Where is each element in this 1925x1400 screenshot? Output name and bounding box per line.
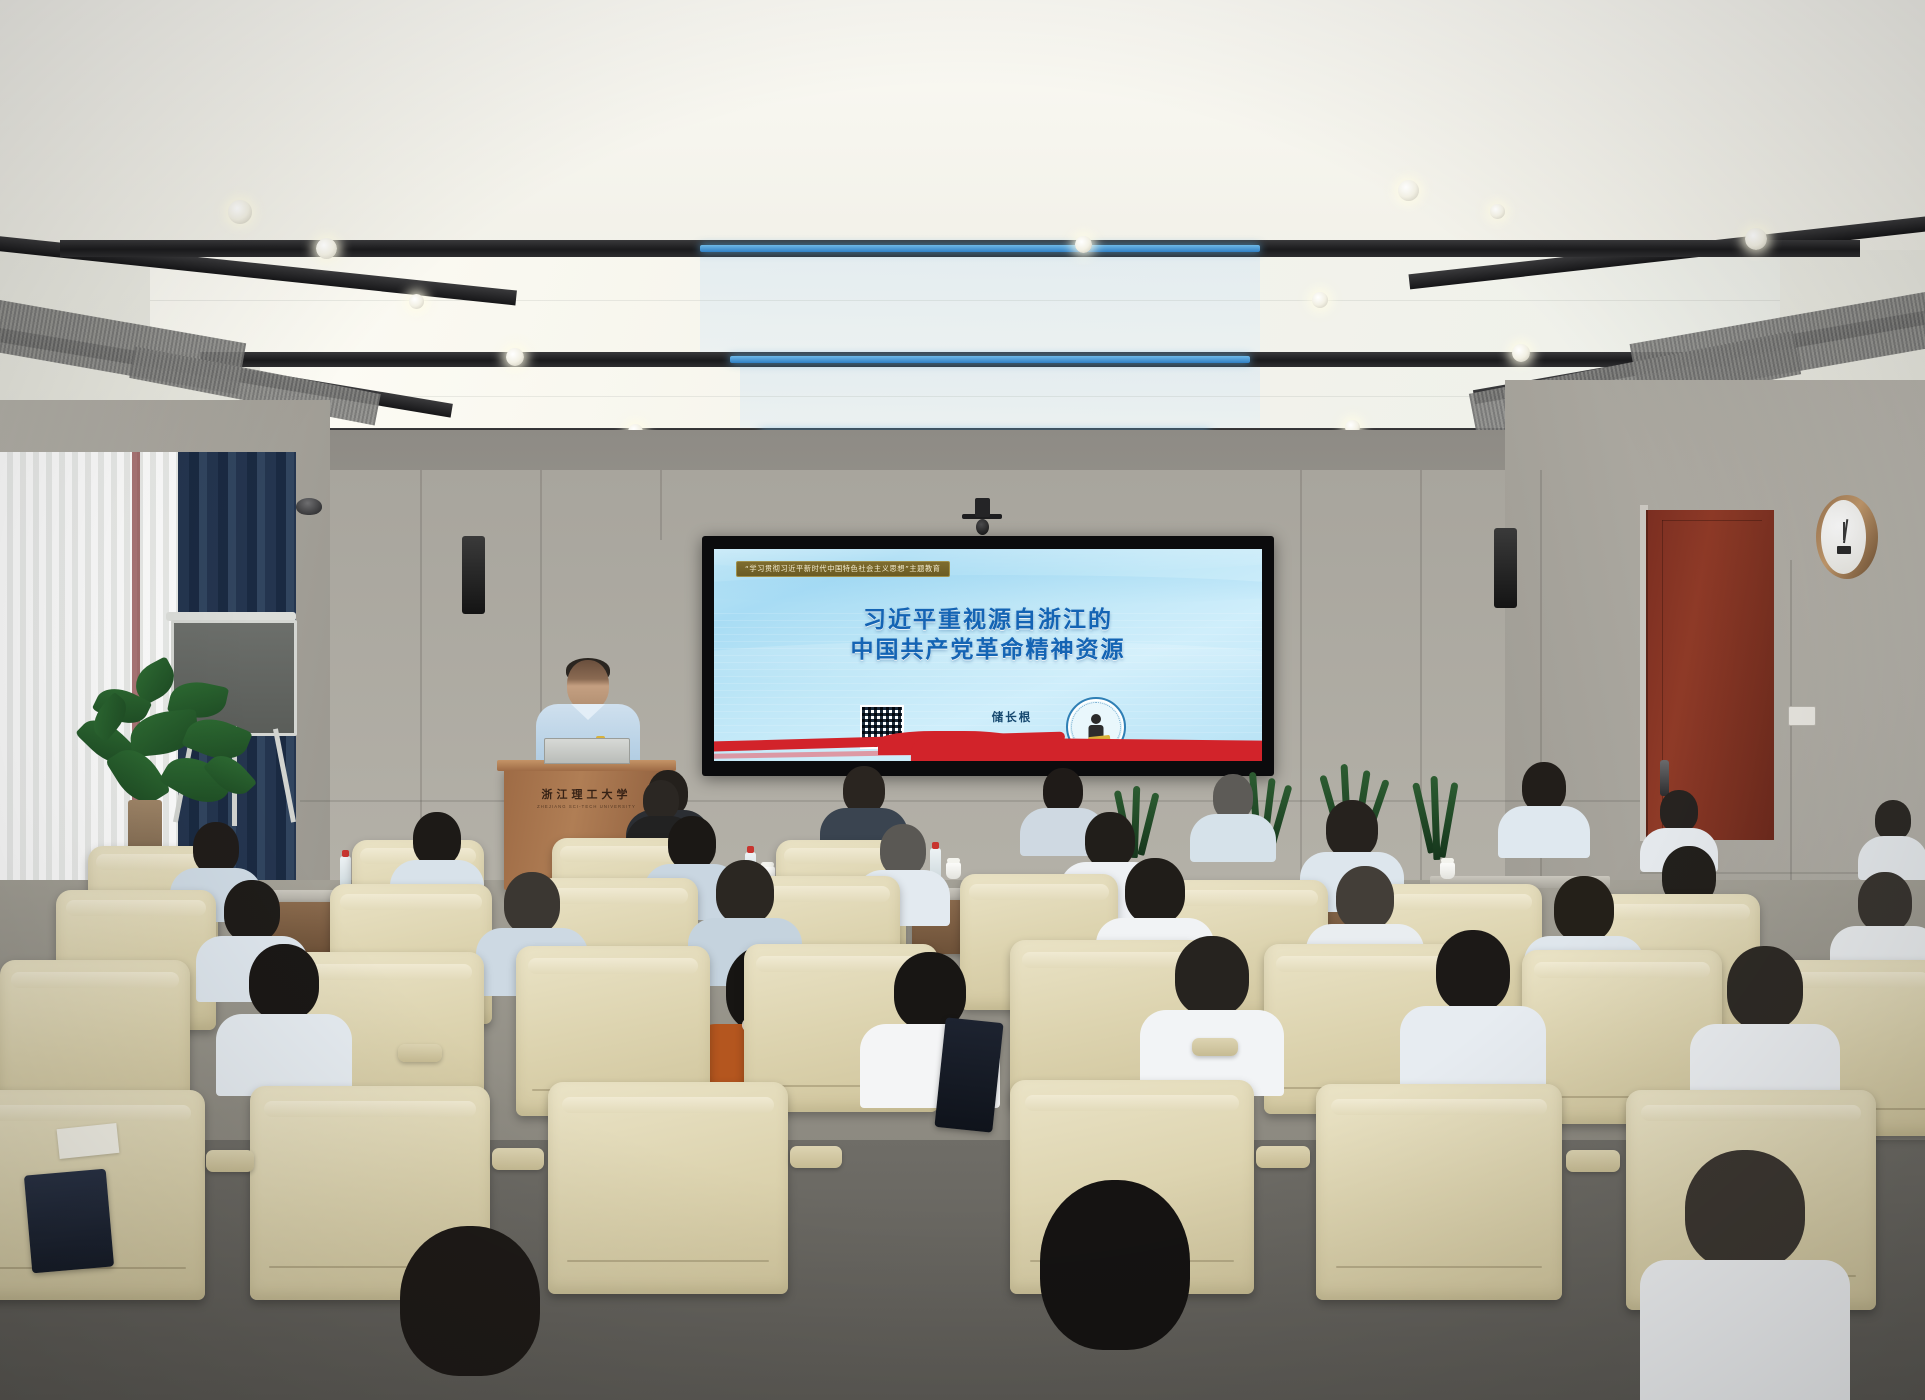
wall-speaker <box>462 536 485 614</box>
audience-person <box>360 1226 580 1400</box>
door-panel-line <box>1662 520 1762 521</box>
person-head <box>643 780 679 820</box>
wall-seam <box>1420 470 1422 900</box>
recessed-downlight <box>316 238 337 259</box>
audience-person <box>1190 774 1276 858</box>
person-head <box>400 1226 540 1376</box>
ceiling-camera-icon <box>296 498 322 515</box>
recessed-downlight <box>506 348 524 366</box>
person-head <box>1727 946 1803 1030</box>
wall-seam <box>660 470 662 540</box>
wall-seam <box>300 800 1640 802</box>
recessed-downlight <box>228 200 252 224</box>
person-body <box>1640 1260 1850 1400</box>
audience-person <box>1858 800 1925 874</box>
recessed-downlight <box>1512 344 1530 362</box>
coat <box>934 1017 1003 1132</box>
slide-title: 习近平重视源自浙江的 中国共产党革命精神资源 <box>714 605 1262 666</box>
tea-cup <box>1440 862 1455 879</box>
person-head <box>1326 800 1378 858</box>
projector-lens-icon <box>976 519 989 535</box>
clock-date-window <box>1837 546 1851 554</box>
recessed-downlight <box>1398 180 1419 201</box>
seat-armrest <box>1192 1038 1238 1056</box>
person-body <box>1400 1006 1546 1094</box>
person-body <box>1190 814 1276 862</box>
laptop <box>544 738 630 764</box>
blue-led-strip <box>730 356 1250 363</box>
notepad <box>57 1123 120 1159</box>
person-body <box>1498 806 1590 858</box>
person-body <box>216 1014 352 1096</box>
clock-face <box>1821 500 1866 574</box>
ceiling-panel-seam <box>150 300 1780 301</box>
ceiling-panel-seam <box>260 396 1670 397</box>
audience-person <box>1000 1180 1230 1400</box>
person-head <box>1875 800 1911 840</box>
audience-person <box>1400 930 1546 1088</box>
ceiling-soffit <box>0 0 1925 250</box>
laptop-bag <box>24 1169 114 1274</box>
audience-person <box>1640 1150 1850 1400</box>
audience-person <box>216 944 352 1090</box>
person-head <box>1685 1150 1805 1270</box>
person-head <box>1125 858 1185 924</box>
person-head <box>193 822 239 874</box>
water-bottle <box>340 856 351 886</box>
slide-red-ribbon <box>714 709 1262 761</box>
seat-armrest <box>1566 1150 1620 1172</box>
seat-armrest <box>398 1044 442 1062</box>
person-head <box>1522 762 1566 812</box>
seat-armrest <box>790 1146 842 1168</box>
person-head <box>224 880 280 942</box>
seat-armrest <box>492 1148 544 1170</box>
ribbon-shape <box>911 737 1262 761</box>
slide-title-line2: 中国共产党革命精神资源 <box>714 635 1262 665</box>
audience-person <box>1498 762 1590 854</box>
slide-title-line1: 习近平重视源自浙江的 <box>714 605 1262 635</box>
recessed-downlight <box>1312 292 1328 308</box>
person-head <box>1336 866 1394 930</box>
recessed-downlight <box>1490 204 1505 219</box>
person-head <box>1660 790 1698 832</box>
wall-speaker <box>1494 528 1517 608</box>
person-head <box>716 860 774 924</box>
wall-clock <box>1816 495 1878 579</box>
person-head <box>1554 876 1614 942</box>
person-head <box>1436 930 1510 1012</box>
person-head <box>249 944 319 1020</box>
presenter-head <box>567 660 609 710</box>
person-head <box>504 872 560 934</box>
audience-person <box>1690 946 1840 1106</box>
seat-armrest <box>1256 1146 1310 1168</box>
person-head <box>1040 1180 1190 1350</box>
recessed-downlight <box>1075 236 1092 253</box>
slide-wave <box>714 575 1262 605</box>
wall-seam <box>1790 560 1792 900</box>
presentation-slide: “学习贯彻习近平新时代中国特色社会主义思想”主题教育 习近平重视源自浙江的 中国… <box>714 549 1262 761</box>
recessed-downlight <box>1745 228 1767 250</box>
light-switch-panel[interactable] <box>1788 706 1816 726</box>
ceiling-projector-mount <box>962 498 1002 540</box>
recessed-downlight <box>409 294 424 309</box>
auditorium-seat <box>548 1082 788 1294</box>
slide-banner-text: “学习贯彻习近平新时代中国特色社会主义思想”主题教育 <box>736 561 950 577</box>
seat-armrest <box>206 1150 254 1172</box>
blue-led-strip <box>700 245 1260 252</box>
ceiling-panel-tint <box>700 248 1260 354</box>
person-head <box>1858 872 1912 932</box>
person-head <box>843 766 885 814</box>
conference-room-photo: “学习贯彻习近平新时代中国特色社会主义思想”主题教育 习近平重视源自浙江的 中国… <box>0 0 1925 1400</box>
person-head <box>880 824 926 876</box>
projector-body <box>975 498 990 517</box>
person-head <box>413 812 461 866</box>
ceiling-panel-tint <box>740 360 1260 430</box>
auditorium-seat <box>1316 1084 1562 1300</box>
person-head <box>1175 936 1249 1016</box>
audience-person <box>1140 936 1284 1090</box>
